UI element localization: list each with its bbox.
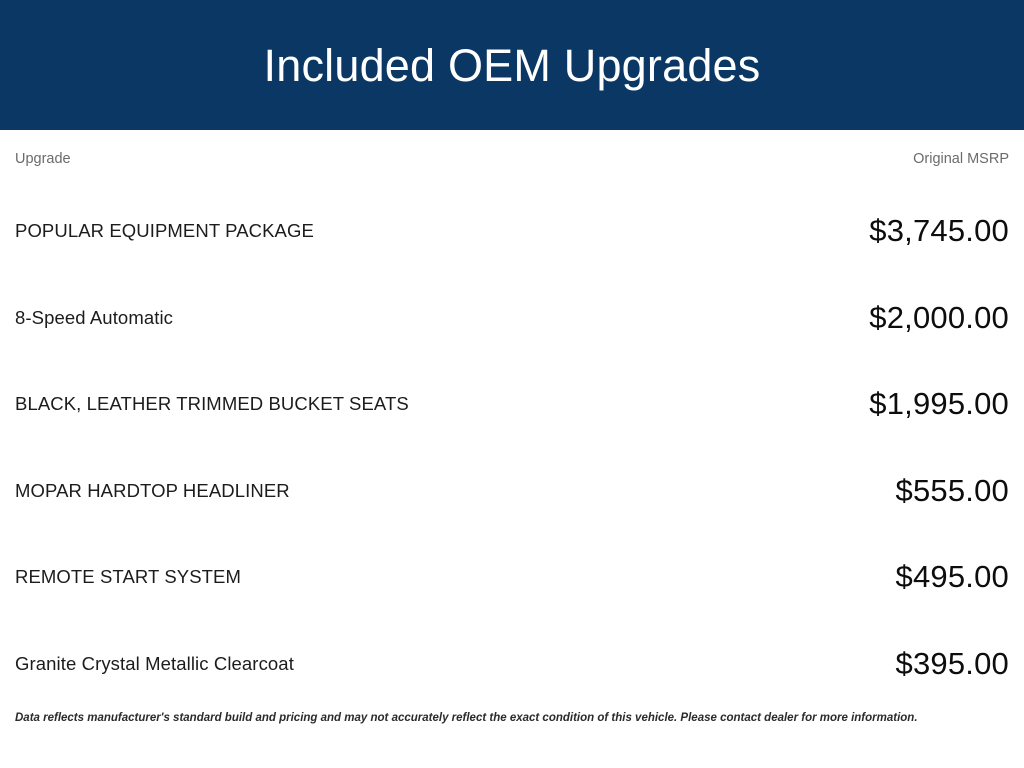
disclaimer-section: Data reflects manufacturer's standard bu…: [0, 711, 1024, 734]
table-row: MOPAR HARDTOP HEADLINER $555.00: [15, 448, 1009, 535]
upgrades-table: Upgrade Original MSRP POPULAR EQUIPMENT …: [0, 130, 1024, 711]
table-row: BLACK, LEATHER TRIMMED BUCKET SEATS $1,9…: [15, 361, 1009, 448]
table-row: Granite Crystal Metallic Clearcoat $395.…: [15, 621, 1009, 708]
upgrade-price: $1,995.00: [869, 386, 1009, 422]
upgrade-price: $495.00: [896, 559, 1009, 595]
oem-upgrades-page: Included OEM Upgrades Upgrade Original M…: [0, 0, 1024, 768]
table-row: REMOTE START SYSTEM $495.00: [15, 534, 1009, 621]
column-header-original-msrp: Original MSRP: [913, 151, 1009, 167]
upgrade-price: $3,745.00: [869, 213, 1009, 249]
upgrade-name: POPULAR EQUIPMENT PACKAGE: [15, 220, 314, 242]
table-body: POPULAR EQUIPMENT PACKAGE $3,745.00 8-Sp…: [15, 188, 1009, 711]
upgrade-price: $395.00: [896, 646, 1009, 682]
column-header-upgrade: Upgrade: [15, 151, 71, 167]
page-header-banner: Included OEM Upgrades: [0, 0, 1024, 130]
disclaimer-text: Data reflects manufacturer's standard bu…: [15, 711, 1009, 726]
table-header-row: Upgrade Original MSRP: [15, 130, 1009, 188]
bottom-spacer: [0, 734, 1024, 768]
upgrade-price: $555.00: [896, 473, 1009, 509]
upgrade-name: REMOTE START SYSTEM: [15, 566, 241, 588]
upgrade-name: 8-Speed Automatic: [15, 307, 173, 329]
upgrade-name: BLACK, LEATHER TRIMMED BUCKET SEATS: [15, 393, 409, 415]
upgrade-name: MOPAR HARDTOP HEADLINER: [15, 480, 290, 502]
table-row: 8-Speed Automatic $2,000.00: [15, 275, 1009, 362]
upgrade-price: $2,000.00: [869, 300, 1009, 336]
page-title: Included OEM Upgrades: [264, 43, 761, 88]
table-row: POPULAR EQUIPMENT PACKAGE $3,745.00: [15, 188, 1009, 275]
upgrade-name: Granite Crystal Metallic Clearcoat: [15, 653, 294, 675]
